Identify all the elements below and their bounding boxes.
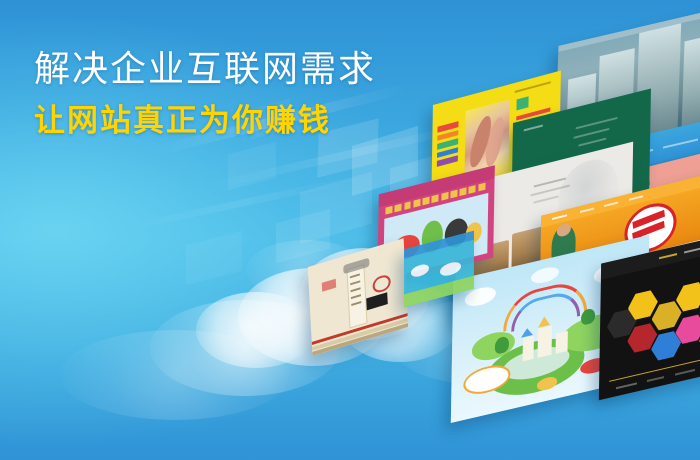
enterprise-website-hero-banner: 解决企业互联网需求 让网站真正为你赚钱 bbox=[0, 0, 700, 460]
website-card-beige-envelope[interactable] bbox=[308, 238, 409, 356]
page-subtitle: 让网站真正为你赚钱 bbox=[34, 102, 376, 139]
hero-copy: 解决企业互联网需求 让网站真正为你赚钱 bbox=[34, 48, 376, 140]
page-title: 解决企业互联网需求 bbox=[34, 48, 376, 90]
